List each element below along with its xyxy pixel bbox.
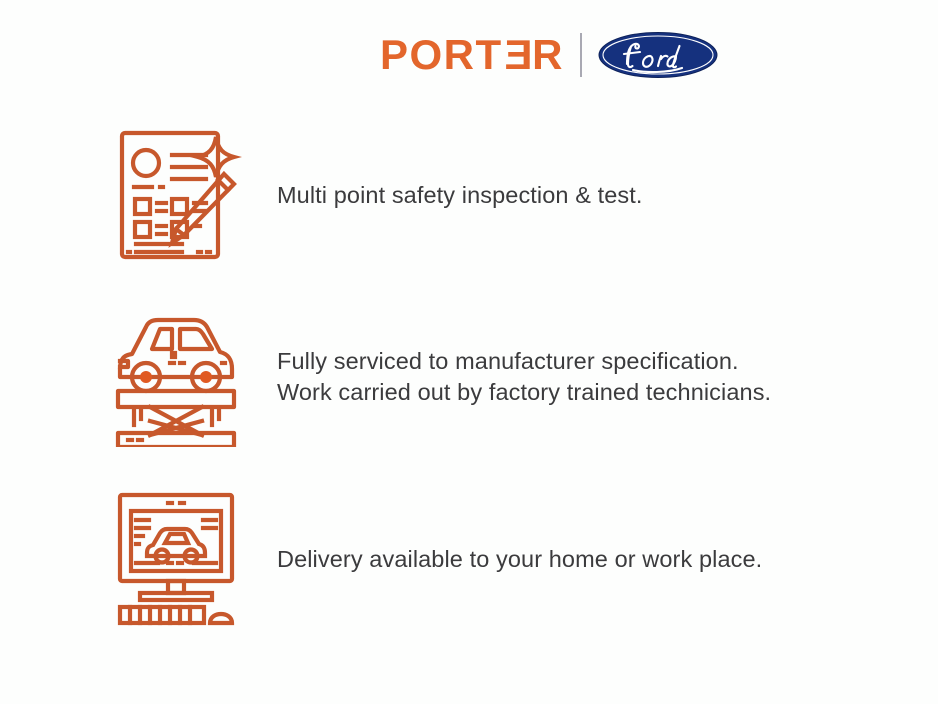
porter-wordmark-part1: PORT — [380, 34, 503, 76]
feature-row: Fully serviced to manufacturer specifica… — [0, 286, 938, 468]
logo-divider — [580, 33, 582, 77]
computer-car-delivery-icon — [110, 489, 250, 629]
car-on-lift-icon — [110, 307, 250, 447]
brand-header: PORTER — [0, 24, 938, 86]
ford-logo-icon — [598, 31, 718, 79]
feature-text: Delivery available to your home or work … — [277, 544, 762, 575]
clipboard-inspection-icon — [110, 125, 250, 265]
porter-wordmark-part2: R — [532, 34, 564, 76]
porter-wordmark-reversed-e: E — [503, 34, 533, 76]
feature-text: Multi point safety inspection & test. — [277, 180, 643, 211]
feature-row: Multi point safety inspection & test. — [0, 104, 938, 286]
feature-row: Delivery available to your home or work … — [0, 468, 938, 650]
feature-text: Fully serviced to manufacturer specifica… — [277, 346, 771, 408]
logo-lockup: PORTER — [380, 31, 718, 79]
feature-list: Multi point safety inspection & test. — [0, 104, 938, 650]
porter-wordmark: PORTER — [380, 34, 564, 76]
